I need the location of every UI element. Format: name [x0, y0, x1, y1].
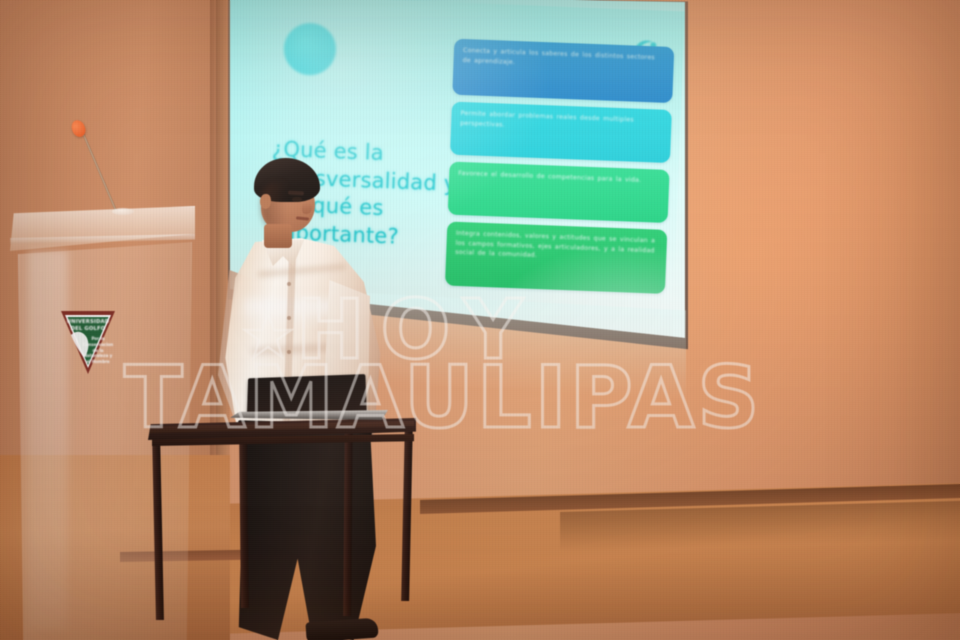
slide-bar-1-text: Conecta y articula los saberes de los di… — [462, 46, 665, 73]
university-emblem: UNIVERSIDAD DEL GOLFO Por la Conservacio… — [57, 305, 119, 377]
speaker-neck — [264, 224, 292, 248]
microphone-stem — [82, 133, 117, 211]
slide-bar-1: Conecta y articula los saberes de los di… — [452, 39, 674, 103]
table-leg — [152, 434, 164, 620]
slide-bar-3: Favorece el desarrollo de competencias p… — [448, 162, 670, 223]
slide-bar-list: Conecta y articula los saberes de los di… — [445, 39, 675, 301]
presentation-photo: ¿Qué es la transversalidad y por qué es … — [0, 0, 960, 640]
slide-bar-4: Integra contenidos, valores y actitudes … — [445, 222, 667, 294]
slide-bar-2: Permite abordar problemas reales desde m… — [450, 102, 672, 163]
speaker-eye — [292, 197, 302, 202]
laptop — [230, 382, 390, 426]
emblem-motto: Por la Conservacion de la Naturaleza y e… — [81, 336, 115, 365]
shirt-button — [287, 282, 291, 286]
slide-bar-2-text: Permite abordar problemas reales desde m… — [460, 109, 663, 136]
presenter-table — [148, 418, 416, 640]
slide-decoration-circle — [283, 22, 337, 76]
emblem-line-2: DEL GOLFO — [57, 326, 119, 332]
slide-bar-3-text: Favorece el desarrollo de competencias p… — [458, 169, 660, 186]
emblem-line-1: UNIVERSIDAD — [57, 319, 119, 325]
slide-bar-4-text: Integra contenidos, valores y actitudes … — [455, 229, 658, 266]
speaker-ear — [260, 194, 271, 209]
laptop-screen — [247, 374, 367, 414]
shirt-button — [287, 350, 291, 354]
table-leg — [343, 426, 353, 616]
table-leg — [401, 423, 413, 601]
table-leg — [239, 430, 249, 608]
gooseneck-microphone — [62, 120, 172, 220]
shirt-button — [287, 316, 291, 320]
